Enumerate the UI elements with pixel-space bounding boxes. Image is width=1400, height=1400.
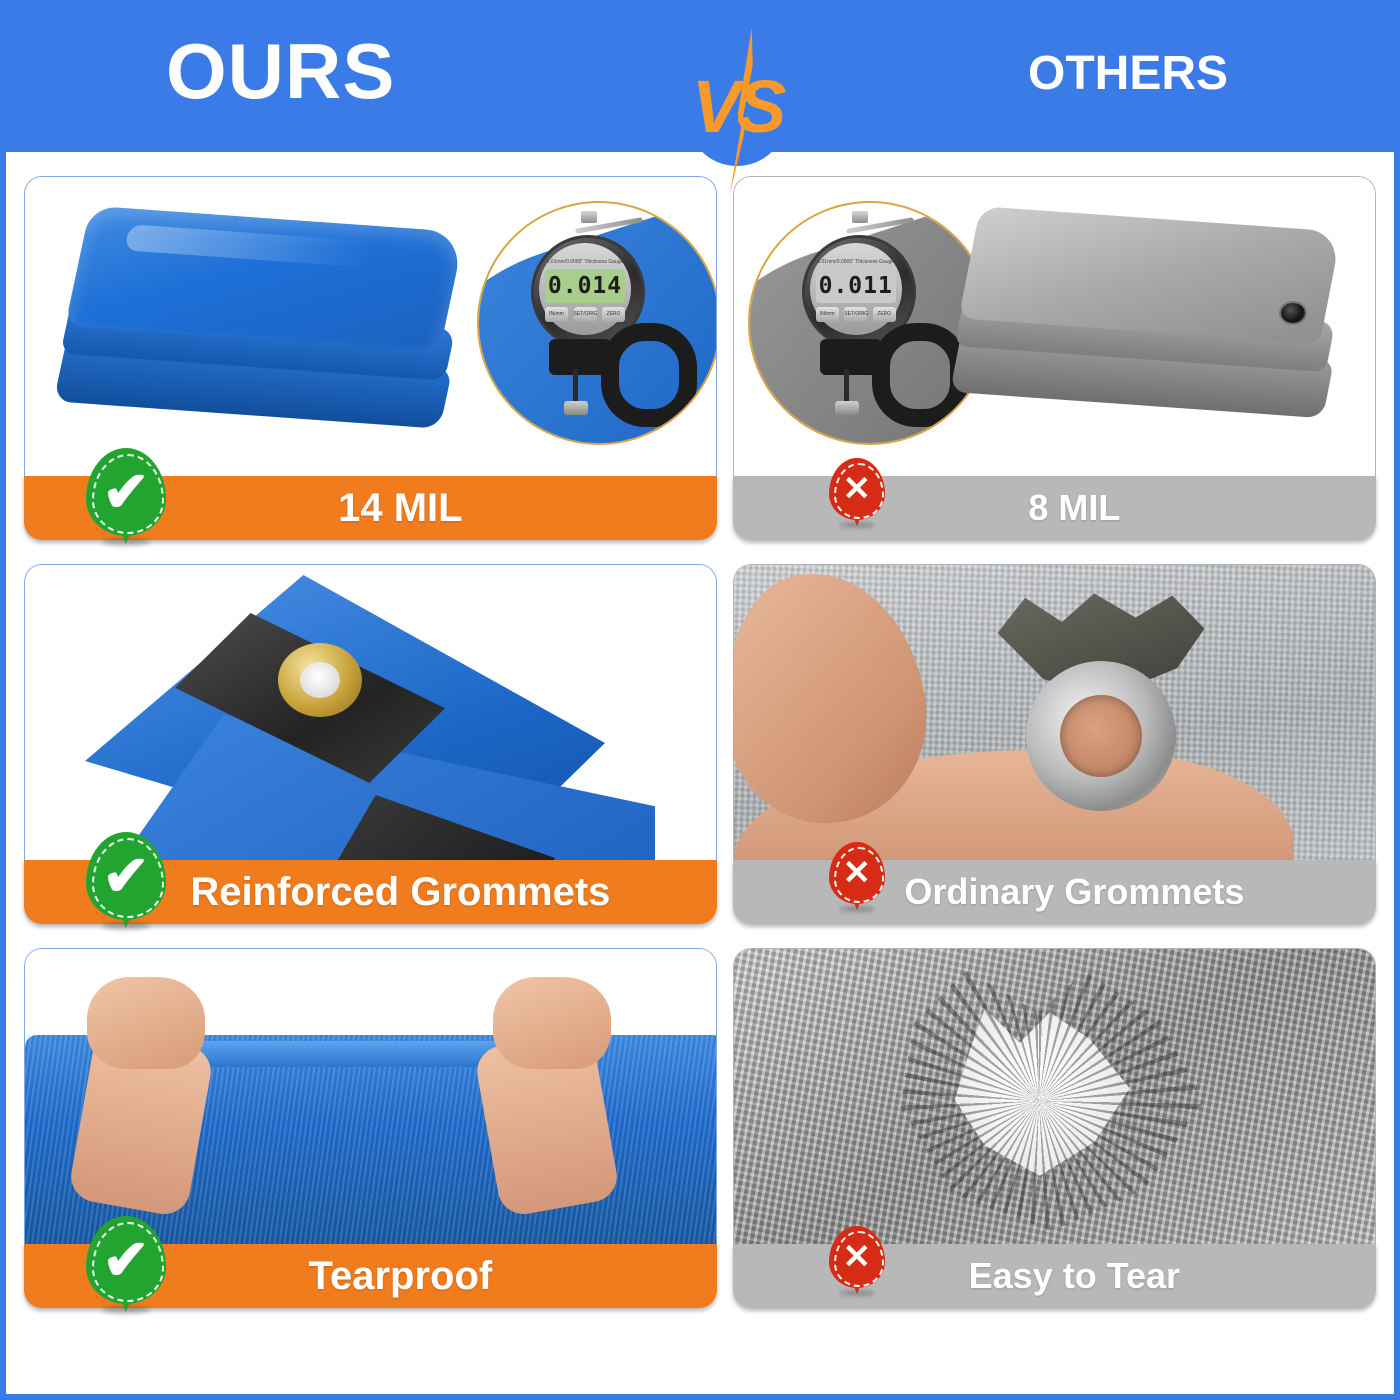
check-pin-icon-tear: ✔ (86, 1216, 166, 1314)
gauge-c-frame (549, 339, 699, 423)
gauge-scale-text: 0.01mm/0.0005" Thickness Gauge (545, 259, 625, 266)
check-pin-icon-grommets: ✔ (86, 832, 166, 930)
header-band: OURS OTHERS VS (6, 6, 1394, 152)
check-pin-icon-thickness: ✔ (86, 448, 166, 546)
torn-gray-tarp-image (734, 949, 1375, 1244)
blue-folded-tarp-image (55, 219, 475, 449)
ours-panel-grommets: ✔ Reinforced Grommets (24, 564, 717, 924)
check-glyph: ✔ (86, 448, 166, 536)
cross-glyph: ✕ (829, 842, 885, 904)
vs-label: VS (677, 70, 797, 144)
gauge-button-inmm: IN/mm (816, 307, 839, 322)
others-panel-tear: ✕ Easy to Tear (733, 948, 1376, 1308)
right-hand (477, 977, 627, 1177)
check-glyph: ✔ (86, 832, 166, 920)
comparison-row-tear: ✔ Tearproof (24, 948, 1376, 1308)
others-banner-grommets: ✕ Ordinary Grommets (733, 860, 1376, 924)
comparison-row-grommets: ✔ Reinforced Grommets (24, 564, 1376, 924)
gauge-reading-others: 0.011 (816, 269, 896, 303)
left-hand (71, 977, 221, 1177)
others-image-card-grommets (733, 564, 1376, 860)
hands-pulling-blue-tarp-image (25, 949, 716, 1244)
gauge-buttons: IN/mm SET/ORIG ZERO (816, 307, 896, 323)
gray-folded-tarp-image (953, 219, 1353, 444)
cross-pin-icon-thickness: ✕ (829, 458, 885, 528)
gray-tarp-scene: 0.01mm/0.0005" Thickness Gauge 0.011 IN/… (734, 177, 1375, 476)
gauge-lever-icon (575, 217, 645, 237)
ours-image-card-thickness: 0.01mm/0.0005" Thickness Gauge 0.014 IN/… (24, 176, 717, 476)
gauge-c-frame (820, 339, 970, 423)
bottom-spacer (24, 1332, 1376, 1346)
brass-grommet-icon (278, 643, 362, 717)
ordinary-grommet-scene (734, 565, 1375, 860)
blue-tarp-corner-image (25, 565, 716, 860)
frayed-fibers (874, 971, 1204, 1231)
gauge-scale-text: 0.01mm/0.0005" Thickness Gauge (816, 259, 896, 266)
gauge-button-set: SET/ORIG (574, 307, 597, 322)
gauge-button-inmm: IN/mm (545, 307, 568, 322)
others-panel-thickness: 0.01mm/0.0005" Thickness Gauge 0.011 IN/… (733, 176, 1376, 540)
others-image-card-thickness: 0.01mm/0.0005" Thickness Gauge 0.011 IN/… (733, 176, 1376, 476)
gauge-reading-ours: 0.014 (545, 269, 625, 303)
check-glyph: ✔ (86, 1216, 166, 1304)
thickness-gauge-magnifier-ours: 0.01mm/0.0005" Thickness Gauge 0.014 IN/… (477, 201, 716, 445)
others-banner-tear: ✕ Easy to Tear (733, 1244, 1376, 1308)
ours-panel-thickness: 0.01mm/0.0005" Thickness Gauge 0.014 IN/… (24, 176, 717, 540)
others-title: OTHERS (1028, 50, 1228, 98)
ours-panel-tear: ✔ Tearproof (24, 948, 717, 1308)
easy-to-tear-scene (734, 949, 1375, 1244)
ours-banner-thickness: ✔ 14 MIL (24, 476, 717, 540)
ours-image-card-tear (24, 948, 717, 1244)
gauge-lever-icon (846, 217, 916, 237)
comparison-row-thickness: 0.01mm/0.0005" Thickness Gauge 0.014 IN/… (24, 176, 1376, 540)
comparison-rows: 0.01mm/0.0005" Thickness Gauge 0.014 IN/… (6, 152, 1394, 1356)
tearproof-scene (25, 949, 716, 1244)
ours-banner-tear: ✔ Tearproof (24, 1244, 717, 1308)
thickness-gauge-ours: 0.01mm/0.0005" Thickness Gauge 0.014 IN/… (531, 217, 711, 437)
ours-image-card-grommets (24, 564, 717, 860)
gauge-button-set: SET/ORIG (844, 307, 867, 322)
gauge-button-zero: ZERO (873, 307, 896, 322)
others-panel-grommets: ✕ Ordinary Grommets (733, 564, 1376, 924)
others-banner-thickness: ✕ 8 MIL (733, 476, 1376, 540)
reinforced-grommet-scene (25, 565, 716, 860)
gauge-buttons: IN/mm SET/ORIG ZERO (545, 307, 625, 323)
cross-glyph: ✕ (829, 1226, 885, 1288)
grommet-icon (1279, 301, 1307, 325)
blue-tarp-scene: 0.01mm/0.0005" Thickness Gauge 0.014 IN/… (25, 177, 716, 476)
cross-pin-icon-grommets: ✕ (829, 842, 885, 912)
ours-title: OURS (166, 32, 395, 110)
others-image-card-tear (733, 948, 1376, 1244)
ours-banner-grommets: ✔ Reinforced Grommets (24, 860, 717, 924)
cross-pin-icon-tear: ✕ (829, 1226, 885, 1296)
comparison-infographic: OURS OTHERS VS (0, 0, 1400, 1400)
vs-badge: VS (677, 28, 797, 196)
gauge-button-zero: ZERO (602, 307, 625, 322)
hand-holding-torn-grommet-image (734, 565, 1375, 860)
cross-glyph: ✕ (829, 458, 885, 520)
